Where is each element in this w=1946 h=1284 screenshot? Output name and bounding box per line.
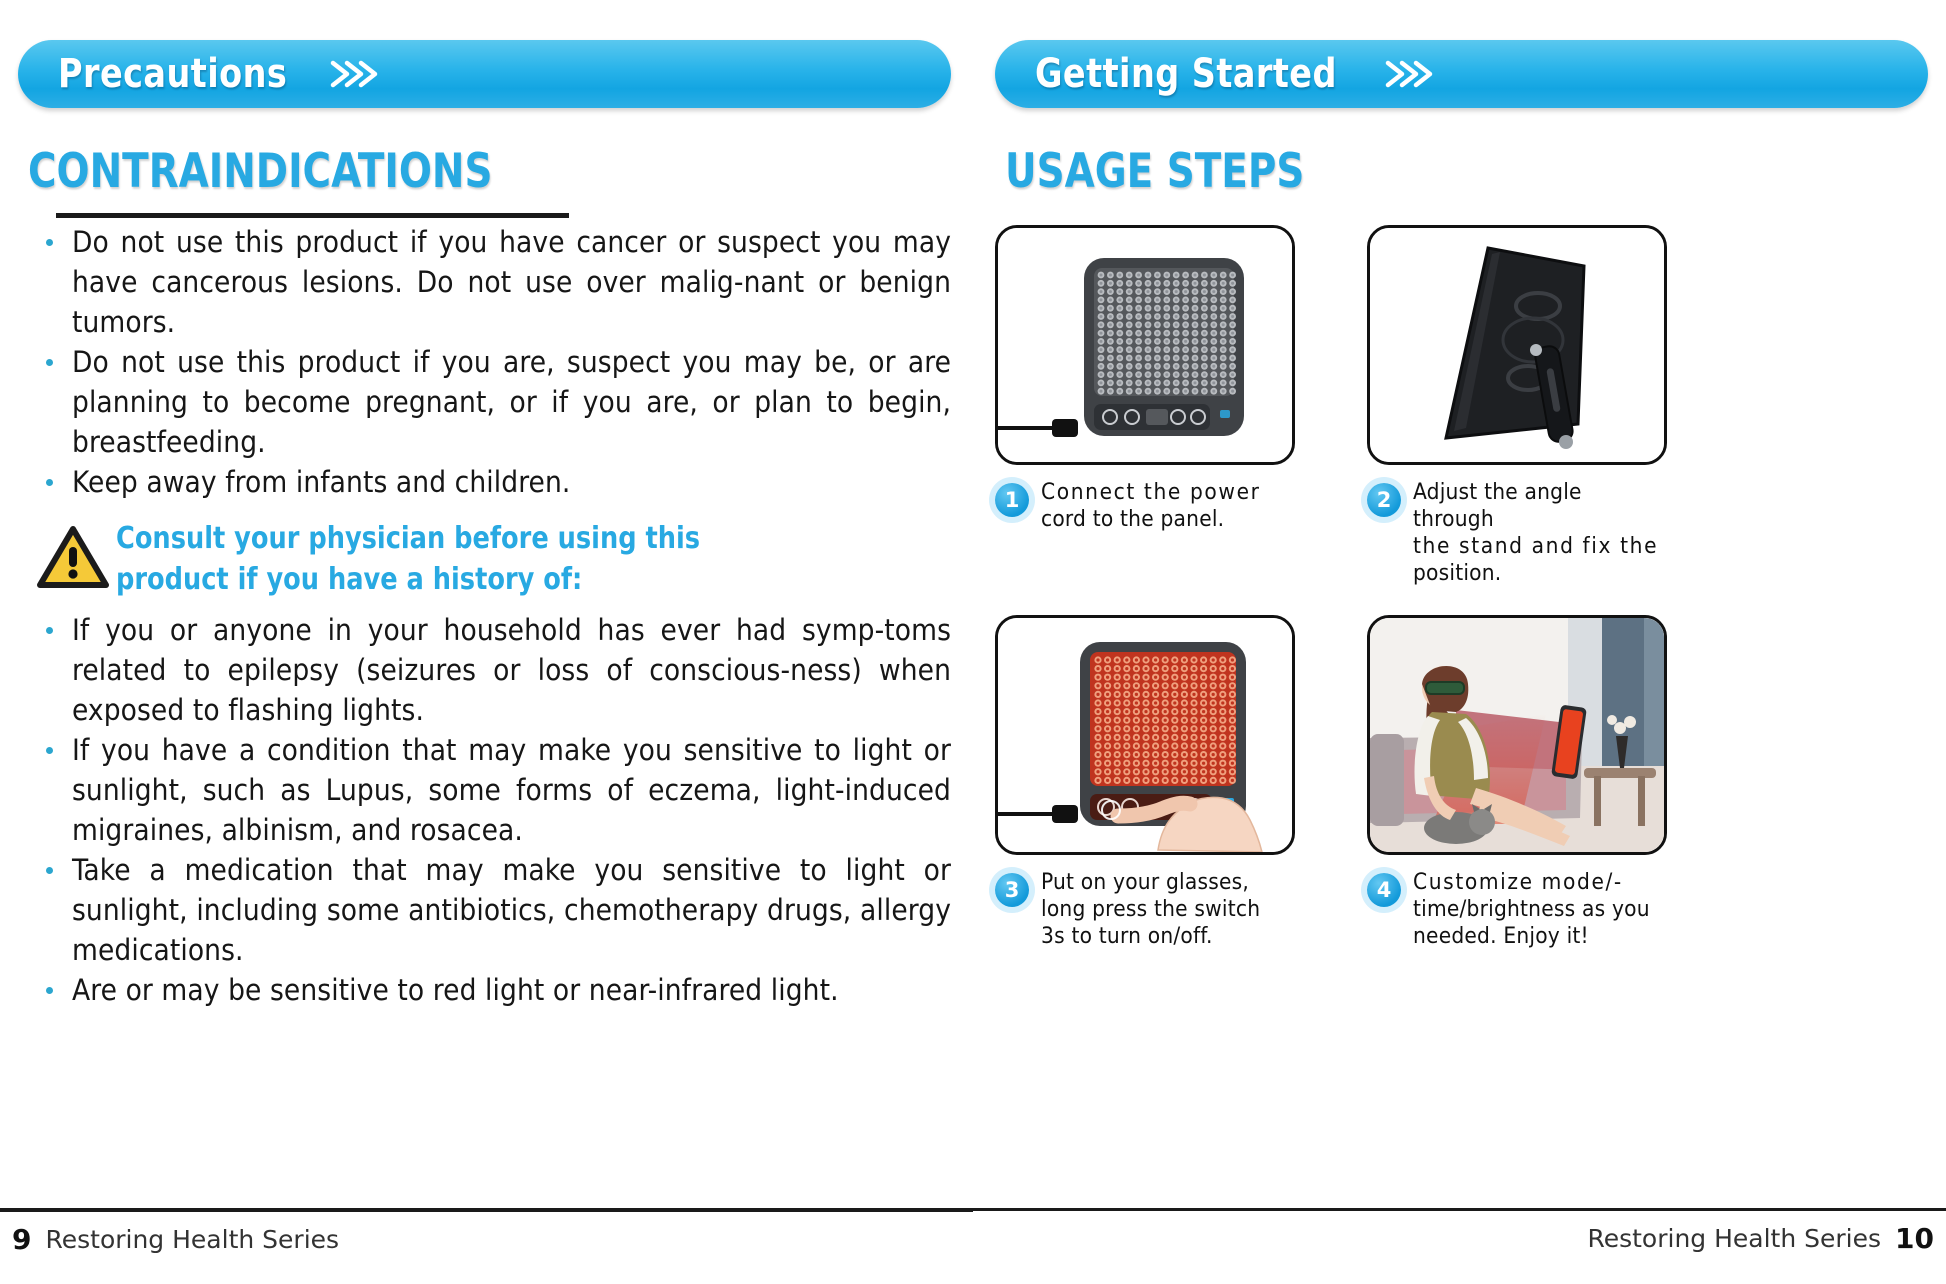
caption-line: position. — [1413, 560, 1667, 587]
history-conditions-list: If you or anyone in your household has e… — [18, 610, 951, 1010]
caption-line: Put on your glasses, — [1041, 869, 1260, 896]
manual-spread: Precautions CONTRAINDICATIONS Do not use… — [0, 0, 1946, 1284]
caption-line: Adjust the angle through — [1413, 479, 1667, 533]
left-page: Precautions CONTRAINDICATIONS Do not use… — [0, 0, 973, 1284]
list-item-text: If you or anyone in your household has e… — [72, 613, 951, 727]
list-item-text: Keep away from infants and children. — [72, 465, 570, 499]
usage-steps-row: 1 Connect the power cord to the panel. — [995, 225, 1928, 587]
right-footer: Restoring Health Series 10 — [973, 1208, 1946, 1284]
list-item: Take a medication that may make you sens… — [34, 850, 951, 970]
page-number: 9 — [12, 1223, 31, 1256]
step-4-photo — [1367, 615, 1667, 855]
bullet-dot-icon — [46, 239, 53, 246]
step-2-photo — [1367, 225, 1667, 465]
list-item: Keep away from infants and children. — [34, 462, 951, 502]
step-1-photo — [995, 225, 1295, 465]
page-title-usage-steps: USAGE STEPS — [1005, 144, 1854, 199]
warning-text: Consult your physician before using this… — [116, 518, 781, 600]
caption-line: the stand and fix the — [1413, 533, 1667, 560]
caption-line: 3s to turn on/off. — [1041, 923, 1260, 950]
chevron-right-triple-icon — [1382, 57, 1436, 91]
list-item: Are or may be sensitive to red light or … — [34, 970, 951, 1010]
list-item-text: Take a medication that may make you sens… — [72, 853, 951, 967]
step-caption-text: Put on your glasses, long press the swit… — [1041, 869, 1260, 950]
list-item: Do not use this product if you are, susp… — [34, 342, 951, 462]
bullet-dot-icon — [46, 747, 53, 754]
page-number: 10 — [1895, 1222, 1934, 1255]
usage-steps-row: 3 Put on your glasses, long press the sw… — [995, 615, 1928, 950]
banner-title-precautions: Precautions — [58, 51, 287, 97]
bullet-dot-icon — [46, 359, 53, 366]
list-item-text: If you have a condition that may make yo… — [72, 733, 951, 847]
list-item-text: Do not use this product if you are, susp… — [72, 345, 951, 459]
bullet-dot-icon — [46, 627, 53, 634]
list-item-text: Are or may be sensitive to red light or … — [72, 973, 839, 1007]
list-item: If you have a condition that may make yo… — [34, 730, 951, 850]
step-caption-text: Adjust the angle through the stand and f… — [1413, 479, 1667, 587]
consult-physician-warning: Consult your physician before using this… — [36, 518, 951, 600]
footer-series-label: Restoring Health Series — [45, 1225, 339, 1254]
usage-step-4: 4 Customize mode/- time/brightness as yo… — [1367, 615, 1667, 950]
caption-line: Customize mode/- — [1413, 869, 1650, 896]
bullet-dot-icon — [46, 867, 53, 874]
usage-steps-grid: 1 Connect the power cord to the panel. — [995, 225, 1928, 950]
left-footer: 9 Restoring Health Series — [0, 1208, 973, 1284]
banner-title-getting-started: Getting Started — [1035, 51, 1337, 97]
caption-line: cord to the panel. — [1041, 506, 1261, 533]
step-number-badge: 1 — [995, 483, 1029, 517]
step-caption-text: Customize mode/- time/brightness as you … — [1413, 869, 1650, 950]
usage-step-2: 2 Adjust the angle through the stand and… — [1367, 225, 1667, 587]
page-title-contraindications: CONTRAINDICATIONS — [28, 144, 877, 199]
list-item-text: Do not use this product if you have canc… — [72, 225, 951, 339]
list-item: If you or anyone in your household has e… — [34, 610, 951, 730]
footer-series-label: Restoring Health Series — [1587, 1224, 1881, 1253]
precautions-banner: Precautions — [18, 40, 951, 108]
caption-line: needed. Enjoy it! — [1413, 923, 1650, 950]
step-2-caption: 2 Adjust the angle through the stand and… — [1367, 479, 1667, 587]
contraindications-list: Do not use this product if you have canc… — [18, 222, 951, 502]
right-page: Getting Started USAGE STEPS — [973, 0, 1946, 1284]
step-3-photo — [995, 615, 1295, 855]
step-number-badge: 4 — [1367, 873, 1401, 907]
list-item: Do not use this product if you have canc… — [34, 222, 951, 342]
step-4-caption: 4 Customize mode/- time/brightness as yo… — [1367, 869, 1667, 950]
bullet-dot-icon — [46, 479, 53, 486]
usage-step-1: 1 Connect the power cord to the panel. — [995, 225, 1295, 587]
step-number-badge: 3 — [995, 873, 1029, 907]
caption-line: Connect the power — [1041, 479, 1261, 506]
usage-step-3: 3 Put on your glasses, long press the sw… — [995, 615, 1295, 950]
warning-triangle-icon — [36, 524, 110, 590]
chevron-right-triple-icon — [327, 57, 381, 91]
step-3-caption: 3 Put on your glasses, long press the sw… — [995, 869, 1295, 950]
caption-line: long press the switch — [1041, 896, 1260, 923]
step-caption-text: Connect the power cord to the panel. — [1041, 479, 1261, 533]
caption-line: time/brightness as you — [1413, 896, 1650, 923]
title-divider — [56, 213, 569, 218]
step-number-badge: 2 — [1367, 483, 1401, 517]
step-1-caption: 1 Connect the power cord to the panel. — [995, 479, 1295, 533]
getting-started-banner: Getting Started — [995, 40, 1928, 108]
bullet-dot-icon — [46, 987, 53, 994]
